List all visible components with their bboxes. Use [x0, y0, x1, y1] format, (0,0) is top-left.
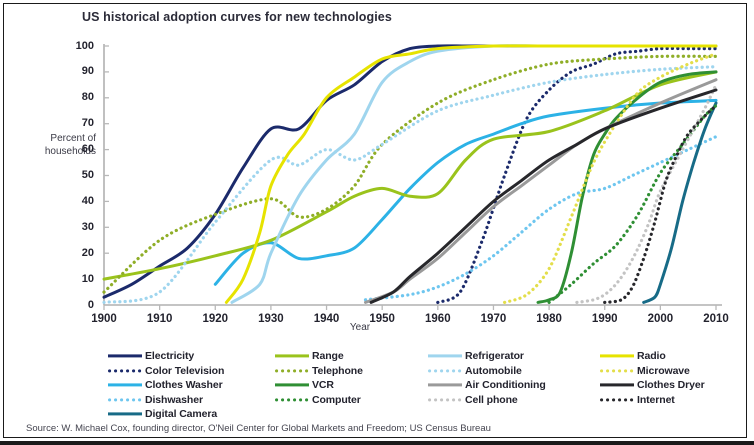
y-tick-50: 50	[62, 170, 94, 181]
y-tick-40: 40	[62, 196, 94, 207]
legend-swatch-icon	[108, 394, 142, 405]
legend-swatch-icon	[108, 351, 142, 362]
legend-item-cell-phone[interactable]: Cell phone	[428, 393, 546, 408]
legend-item-dishwasher[interactable]: Dishwasher	[108, 393, 224, 408]
legend-item-telephone[interactable]: Telephone	[275, 364, 363, 379]
y-tick-90: 90	[62, 66, 94, 77]
legend-item-air-conditioning[interactable]: Air Conditioning	[428, 378, 546, 393]
series-line-microwave	[505, 54, 716, 303]
legend-label: Air Conditioning	[465, 379, 546, 391]
y-tick-70: 70	[62, 118, 94, 129]
legend-label: Clothes Washer	[145, 379, 223, 391]
y-tick-20: 20	[62, 248, 94, 259]
legend-swatch-icon	[428, 351, 462, 362]
legend-label: Internet	[637, 394, 675, 406]
series-line-clothes-washer	[215, 100, 716, 284]
legend-label: Refrigerator	[465, 350, 524, 362]
legend-item-digital-camera[interactable]: Digital Camera	[108, 407, 224, 422]
legend-label: Electricity	[145, 350, 194, 362]
legend-swatch-icon	[428, 380, 462, 391]
legend-swatch-icon	[600, 380, 634, 391]
legend-column-2: RangeTelephoneVCRComputer	[275, 349, 363, 407]
legend-column-3: RefrigeratorAutomobileAir ConditioningCe…	[428, 349, 546, 407]
y-tick-30: 30	[62, 222, 94, 233]
legend-item-computer[interactable]: Computer	[275, 393, 363, 408]
chart-frame: US historical adoption curves for new te…	[3, 3, 747, 438]
legend-label: Digital Camera	[145, 408, 217, 420]
legend-label: VCR	[312, 379, 334, 391]
legend-item-color-television[interactable]: Color Television	[108, 364, 224, 379]
y-tick-100: 100	[62, 41, 94, 52]
legend-label: Radio	[637, 350, 666, 362]
legend-item-clothes-dryer[interactable]: Clothes Dryer	[600, 378, 705, 393]
legend-item-microwave[interactable]: Microwave	[600, 364, 705, 379]
legend-item-electricity[interactable]: Electricity	[108, 349, 224, 364]
y-tick-0: 0	[62, 300, 94, 311]
legend-swatch-icon	[600, 365, 634, 376]
legend-swatch-icon	[428, 365, 462, 376]
x-axis-label: Year	[4, 322, 716, 333]
legend-swatch-icon	[275, 351, 309, 362]
series-line-digital-camera	[644, 103, 716, 302]
y-tick-10: 10	[62, 274, 94, 285]
legend-label: Dishwasher	[145, 394, 203, 406]
series-line-telephone	[104, 56, 716, 292]
legend-label: Microwave	[637, 365, 690, 377]
legend-label: Cell phone	[465, 394, 518, 406]
legend-item-range[interactable]: Range	[275, 349, 363, 364]
legend-swatch-icon	[108, 380, 142, 391]
legend-swatch-icon	[600, 394, 634, 405]
legend-label: Automobile	[465, 365, 522, 377]
legend-swatch-icon	[600, 351, 634, 362]
source-note: Source: W. Michael Cox, founding directo…	[26, 423, 491, 434]
legend-item-automobile[interactable]: Automobile	[428, 364, 546, 379]
legend-label: Clothes Dryer	[637, 379, 705, 391]
legend-item-radio[interactable]: Radio	[600, 349, 705, 364]
series-line-cell-phone	[577, 85, 716, 303]
legend-swatch-icon	[275, 380, 309, 391]
legend-item-clothes-washer[interactable]: Clothes Washer	[108, 378, 224, 393]
legend-item-refrigerator[interactable]: Refrigerator	[428, 349, 546, 364]
legend-swatch-icon	[275, 365, 309, 376]
legend-item-vcr[interactable]: VCR	[275, 378, 363, 393]
legend-column-4: RadioMicrowaveClothes DryerInternet	[600, 349, 705, 407]
legend-column-1: ElectricityColor TelevisionClothes Washe…	[108, 349, 224, 422]
chart-legend: ElectricityColor TelevisionClothes Washe…	[108, 349, 738, 411]
series-line-internet	[605, 106, 716, 303]
data-series-group	[104, 46, 716, 303]
legend-label: Telephone	[312, 365, 363, 377]
legend-swatch-icon	[275, 394, 309, 405]
legend-swatch-icon	[108, 365, 142, 376]
series-line-refrigerator	[232, 46, 716, 303]
legend-label: Range	[312, 350, 344, 362]
legend-swatch-icon	[108, 409, 142, 420]
legend-label: Color Television	[145, 365, 224, 377]
series-line-range	[104, 72, 716, 279]
bottom-bar	[0, 441, 754, 445]
legend-swatch-icon	[428, 394, 462, 405]
y-tick-80: 80	[62, 92, 94, 103]
y-tick-60: 60	[62, 144, 94, 155]
legend-item-internet[interactable]: Internet	[600, 393, 705, 408]
legend-label: Computer	[312, 394, 361, 406]
chart-canvas	[4, 4, 748, 344]
